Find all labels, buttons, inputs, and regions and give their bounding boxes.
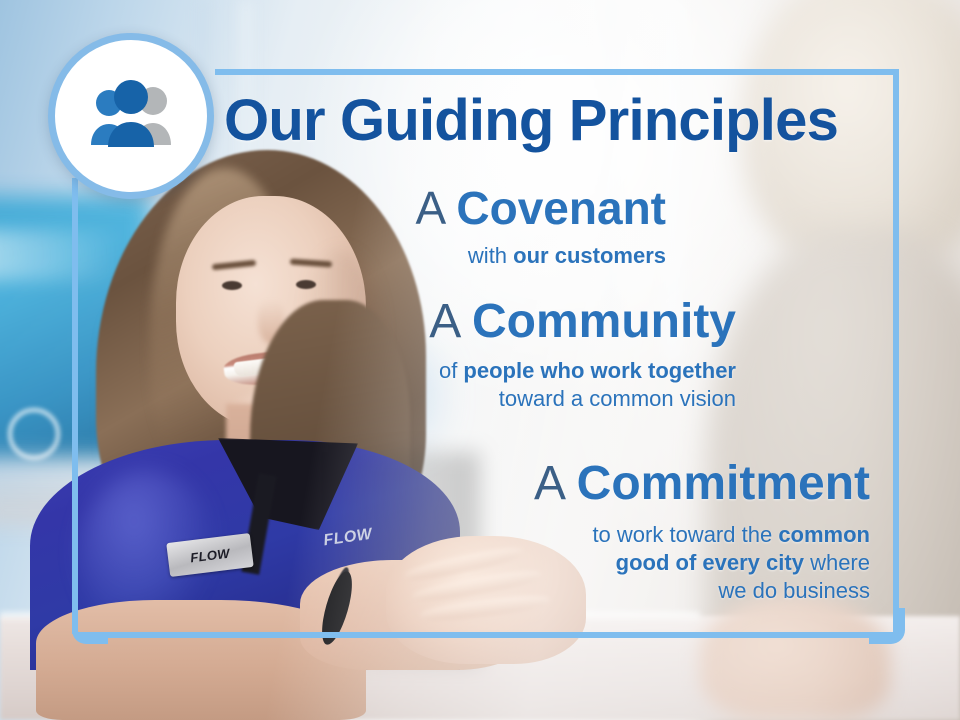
- principle-commitment-heading: A Commitment: [420, 460, 870, 509]
- people-group-badge: [48, 33, 214, 199]
- people-group-icon: [79, 79, 183, 153]
- principle-covenant-body: with our customers: [286, 242, 666, 270]
- page-title: Our Guiding Principles: [224, 92, 838, 150]
- principle-commitment-line-1: to work toward the common: [420, 521, 870, 549]
- principle-covenant-line-1-part-1: with: [468, 243, 513, 268]
- principle-commitment-keyword: Commitment: [577, 457, 870, 510]
- principle-commitment-line-2-part-2: where: [804, 550, 870, 575]
- principle-community-article: A: [429, 295, 458, 348]
- principle-commitment-body: to work toward the common good of every …: [420, 521, 870, 605]
- guiding-principles-graphic: FLOW FLOW: [0, 0, 960, 720]
- principle-commitment-article: A: [534, 457, 563, 510]
- principle-covenant: A Covenant with our customers: [286, 185, 666, 270]
- principle-covenant-keyword: Covenant: [456, 182, 666, 234]
- principle-community-heading: A Community: [356, 298, 736, 347]
- principle-covenant-article: A: [415, 182, 443, 234]
- principle-community-keyword: Community: [472, 295, 736, 348]
- principle-commitment-line-2: good of every city where: [420, 549, 870, 577]
- principle-commitment-line-1-part-2: common: [778, 522, 870, 547]
- principle-community-body: of people who work together toward a com…: [356, 357, 736, 413]
- principle-covenant-heading: A Covenant: [286, 185, 666, 232]
- principle-commitment-line-2-part-1: good of every city: [616, 550, 804, 575]
- principle-covenant-line-1-part-2: our customers: [513, 243, 666, 268]
- principle-community: A Community of people who work together …: [356, 298, 736, 413]
- principle-commitment: A Commitment to work toward the common g…: [420, 460, 870, 605]
- principle-commitment-line-1-part-1: to work toward the: [592, 522, 778, 547]
- principle-community-line-1-part-1: of: [439, 358, 463, 383]
- principle-covenant-line-1: with our customers: [286, 242, 666, 270]
- principle-community-line-2: toward a common vision: [356, 385, 736, 413]
- principle-commitment-line-3: we do business: [420, 577, 870, 605]
- principle-community-line-1-part-2: people who work together: [463, 358, 736, 383]
- principle-community-line-1: of people who work together: [356, 357, 736, 385]
